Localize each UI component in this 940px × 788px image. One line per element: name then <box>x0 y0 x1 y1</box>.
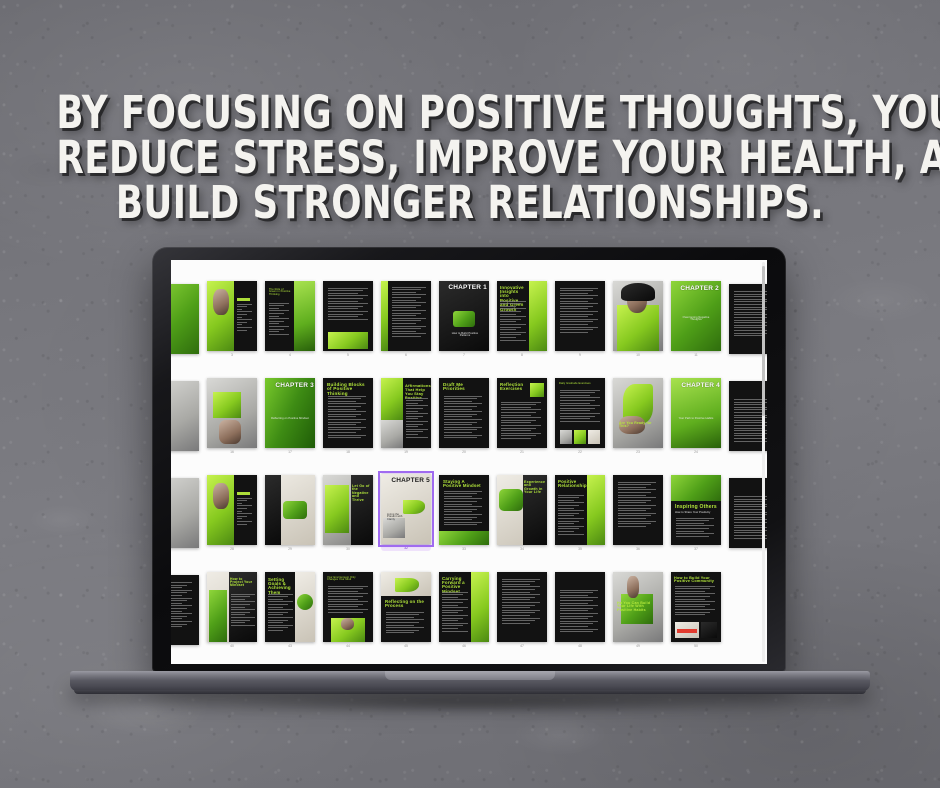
page-thumbnail-image: Your Environment Only Changes Your Mind <box>323 572 373 642</box>
thumbnail-page[interactable]: Are You Ready for This?23 <box>613 378 663 454</box>
thumbnail-page[interactable]: Daily Gratitude Exercises 22 <box>555 378 605 454</box>
thumbnail-page[interactable]: Let Go of the Negative and Thrive30 <box>323 475 373 551</box>
page-number-label: 43 <box>288 645 292 648</box>
page-number-label: 44 <box>346 645 350 648</box>
page-thumbnail-image: Affirmations That Help You Stay Positive <box>381 378 431 448</box>
thumbnail-page[interactable]: CHAPTER 2 Overcoming Negative Thoughts11 <box>671 281 721 357</box>
page-thumbnail-image <box>171 381 199 451</box>
thumbnail-selected[interactable]: CHAPTER 5 Living the Present with Clarit… <box>381 472 431 551</box>
page-thumbnail-image <box>323 281 373 351</box>
page-thumbnail-image: Daily Gratitude Exercises <box>555 378 605 448</box>
thumbnail-page[interactable]: 48 <box>555 572 605 648</box>
thumbnail-page[interactable] <box>171 284 199 357</box>
thumbnail-page[interactable]: 36 <box>613 475 663 551</box>
page-thumbnail-image: Reflecting on the Process <box>381 572 431 642</box>
page-thumbnail-image <box>171 575 199 645</box>
page-number-label: 46 <box>462 645 466 648</box>
page-thumbnail-image <box>171 478 199 548</box>
page-thumbnail-image: Positive Relationships <box>555 475 605 545</box>
thumbnail-page[interactable]: CHAPTER 4 Your Path to Positive Habits24 <box>671 378 721 454</box>
page-thumbnail-image: Ho You Can Build Your Life With Positive… <box>613 572 663 642</box>
thumbnail-page[interactable]: Inspiring Others How to Share Your Posit… <box>671 475 721 551</box>
thumbnail-page[interactable] <box>171 381 199 454</box>
thumbnail-page[interactable]: Reflection Exercises 21 <box>497 378 547 454</box>
thumbnail-row: 16 CHAPTER 3 Reflecting on Positive Mind… <box>171 357 767 454</box>
thumbnail-page[interactable]: 29 <box>265 475 315 551</box>
thumbnail-page[interactable]: CHAPTER 1 How to Build Positive Patterns… <box>439 281 489 357</box>
page-thumbnail-image <box>171 284 199 354</box>
page-thumbnail-image <box>613 475 663 545</box>
laptop-device: 3 The Role of Green in Positive Thinking… <box>152 247 786 672</box>
page-thumbnail-image <box>207 475 257 545</box>
page-thumbnail-image: The Role of Green in Positive Thinking <box>265 281 315 351</box>
laptop-screen: 3 The Role of Green in Positive Thinking… <box>171 260 767 664</box>
page-number-label: 45 <box>404 645 408 648</box>
page-thumbnail-image <box>555 572 605 642</box>
thumbnail-page[interactable]: The Role of Green in Positive Thinking 4 <box>265 281 315 357</box>
page-thumbnail-image <box>207 378 257 448</box>
page-number-label: 48 <box>578 645 582 648</box>
headline: BY FOCUSING ON POSITIVE THOUGHTS, YOU CA… <box>0 92 940 226</box>
headline-line-1: BY FOCUSING ON POSITIVE THOUGHTS, YOU CA… <box>56 92 883 135</box>
laptop-base <box>70 671 870 694</box>
thumbnail-page[interactable]: 3 <box>207 281 257 357</box>
thumbnail-page[interactable]: How to Project Your Mindset 40 <box>207 572 257 648</box>
thumbnail-page[interactable]: Setting Goals & Achieving Them 43 <box>265 572 315 648</box>
page-thumbnail-image <box>381 281 431 351</box>
page-thumbnail-image: How to Project Your Mindset <box>207 572 257 642</box>
page-thumbnail-image: Reflection Exercises <box>497 378 547 448</box>
page-thumbnail-image: CHAPTER 1 How to Build Positive Patterns <box>439 281 489 351</box>
thumbnail-page[interactable]: Staying A Positive Mindset 33 <box>439 475 489 551</box>
headline-line-2: REDUCE STRESS, IMPROVE YOUR HEALTH, AND <box>56 137 883 180</box>
page-thumbnail-image: CHAPTER 5 Living the Present with Clarit… <box>381 474 431 544</box>
page-number-label: 40 <box>230 645 234 648</box>
page-thumbnail-image <box>613 281 663 351</box>
thumbnail-page[interactable]: Innovative Insights into Positive and Gr… <box>497 281 547 357</box>
thumbnail-page[interactable]: Ho You Can Build Your Life With Positive… <box>613 572 663 648</box>
page-thumbnail-image: Setting Goals & Achieving Them <box>265 572 315 642</box>
page-thumbnail-image: CHAPTER 4 Your Path to Positive Habits <box>671 378 721 448</box>
page-thumbnail-image: How to Build Your Positive Community <box>671 572 721 642</box>
page-thumbnail-image: Building Blocks of Positive Thinking <box>323 378 373 448</box>
page-thumbnail-image: CHAPTER 2 Overcoming Negative Thoughts <box>671 281 721 351</box>
thumbnail-page[interactable]: Positive Relationships 35 <box>555 475 605 551</box>
thumbnail-page[interactable]: How to Build Your Positive Community 50 <box>671 572 721 648</box>
thumbnail-page[interactable]: 47 <box>497 572 547 648</box>
thumbnail-page[interactable]: 16 <box>207 378 257 454</box>
page-number-label: 47 <box>520 645 524 648</box>
pdf-thumbnail-grid[interactable]: 3 The Role of Green in Positive Thinking… <box>171 260 767 664</box>
page-thumbnail-image: Carrying Forward a Positive Mindset <box>439 572 489 642</box>
thumbnail-page[interactable]: 6 <box>381 281 431 357</box>
thumbnail-page[interactable]: 28 <box>207 475 257 551</box>
laptop-base-edge <box>74 690 866 694</box>
thumbnail-page[interactable]: Reflecting on the Process 45 <box>381 572 431 648</box>
page-thumbnail-image: Are You Ready for This? <box>613 378 663 448</box>
page-number-label: 32 <box>404 547 408 550</box>
thumbnail-page[interactable] <box>171 575 199 648</box>
page-thumbnail-image: Draft Me Priorities <box>439 378 489 448</box>
thumbnail-page[interactable] <box>171 478 199 551</box>
thumbnail-page[interactable]: CHAPTER 3 Reflecting on Positive Mindset… <box>265 378 315 454</box>
page-thumbnail-image <box>555 281 605 351</box>
thumbnail-page[interactable]: 9 <box>555 281 605 357</box>
page-number-label: 50 <box>694 645 698 648</box>
page-thumbnail-image <box>265 475 315 545</box>
page-thumbnail-image: Let Go of the Negative and Thrive <box>323 475 373 545</box>
thumbnail-page[interactable]: 5 <box>323 281 373 357</box>
headline-line-3: BUILD STRONGER RELATIONSHIPS. <box>56 182 883 225</box>
viewer-scrollbar-track[interactable] <box>762 262 765 662</box>
page-thumbnail-image: Inspiring Others How to Share Your Posit… <box>671 475 721 545</box>
thumbnail-page[interactable]: Experience and Growth in Your Life34 <box>497 475 547 551</box>
thumbnail-page[interactable]: Building Blocks of Positive Thinking 18 <box>323 378 373 454</box>
thumbnail-row: 3 The Role of Green in Positive Thinking… <box>171 260 767 357</box>
page-number-label: 49 <box>636 645 640 648</box>
thumbnail-page[interactable]: 10 <box>613 281 663 357</box>
viewer-scrollbar-thumb[interactable] <box>762 266 765 416</box>
thumbnail-page[interactable]: Draft Me Priorities 20 <box>439 378 489 454</box>
thumbnail-page[interactable]: Your Environment Only Changes Your Mind … <box>323 572 373 648</box>
thumbnail-page[interactable]: Affirmations That Help You Stay Positive… <box>381 378 431 454</box>
page-thumbnail-image: CHAPTER 3 Reflecting on Positive Mindset <box>265 378 315 448</box>
page-thumbnail-image <box>497 572 547 642</box>
thumbnail-page[interactable]: Carrying Forward a Positive Mindset 46 <box>439 572 489 648</box>
page-thumbnail-image <box>207 281 257 351</box>
thumbnail-row: 28 29 Let Go of the Negative and Thrive3… <box>171 454 767 551</box>
page-thumbnail-image: Staying A Positive Mindset <box>439 475 489 545</box>
page-thumbnail-image: Experience and Growth in Your Life <box>497 475 547 545</box>
laptop-hinge-notch <box>385 671 555 680</box>
page-thumbnail-image: Innovative Insights into Positive and Gr… <box>497 281 547 351</box>
thumbnail-row: How to Project Your Mindset 40 Setting G… <box>171 551 767 648</box>
